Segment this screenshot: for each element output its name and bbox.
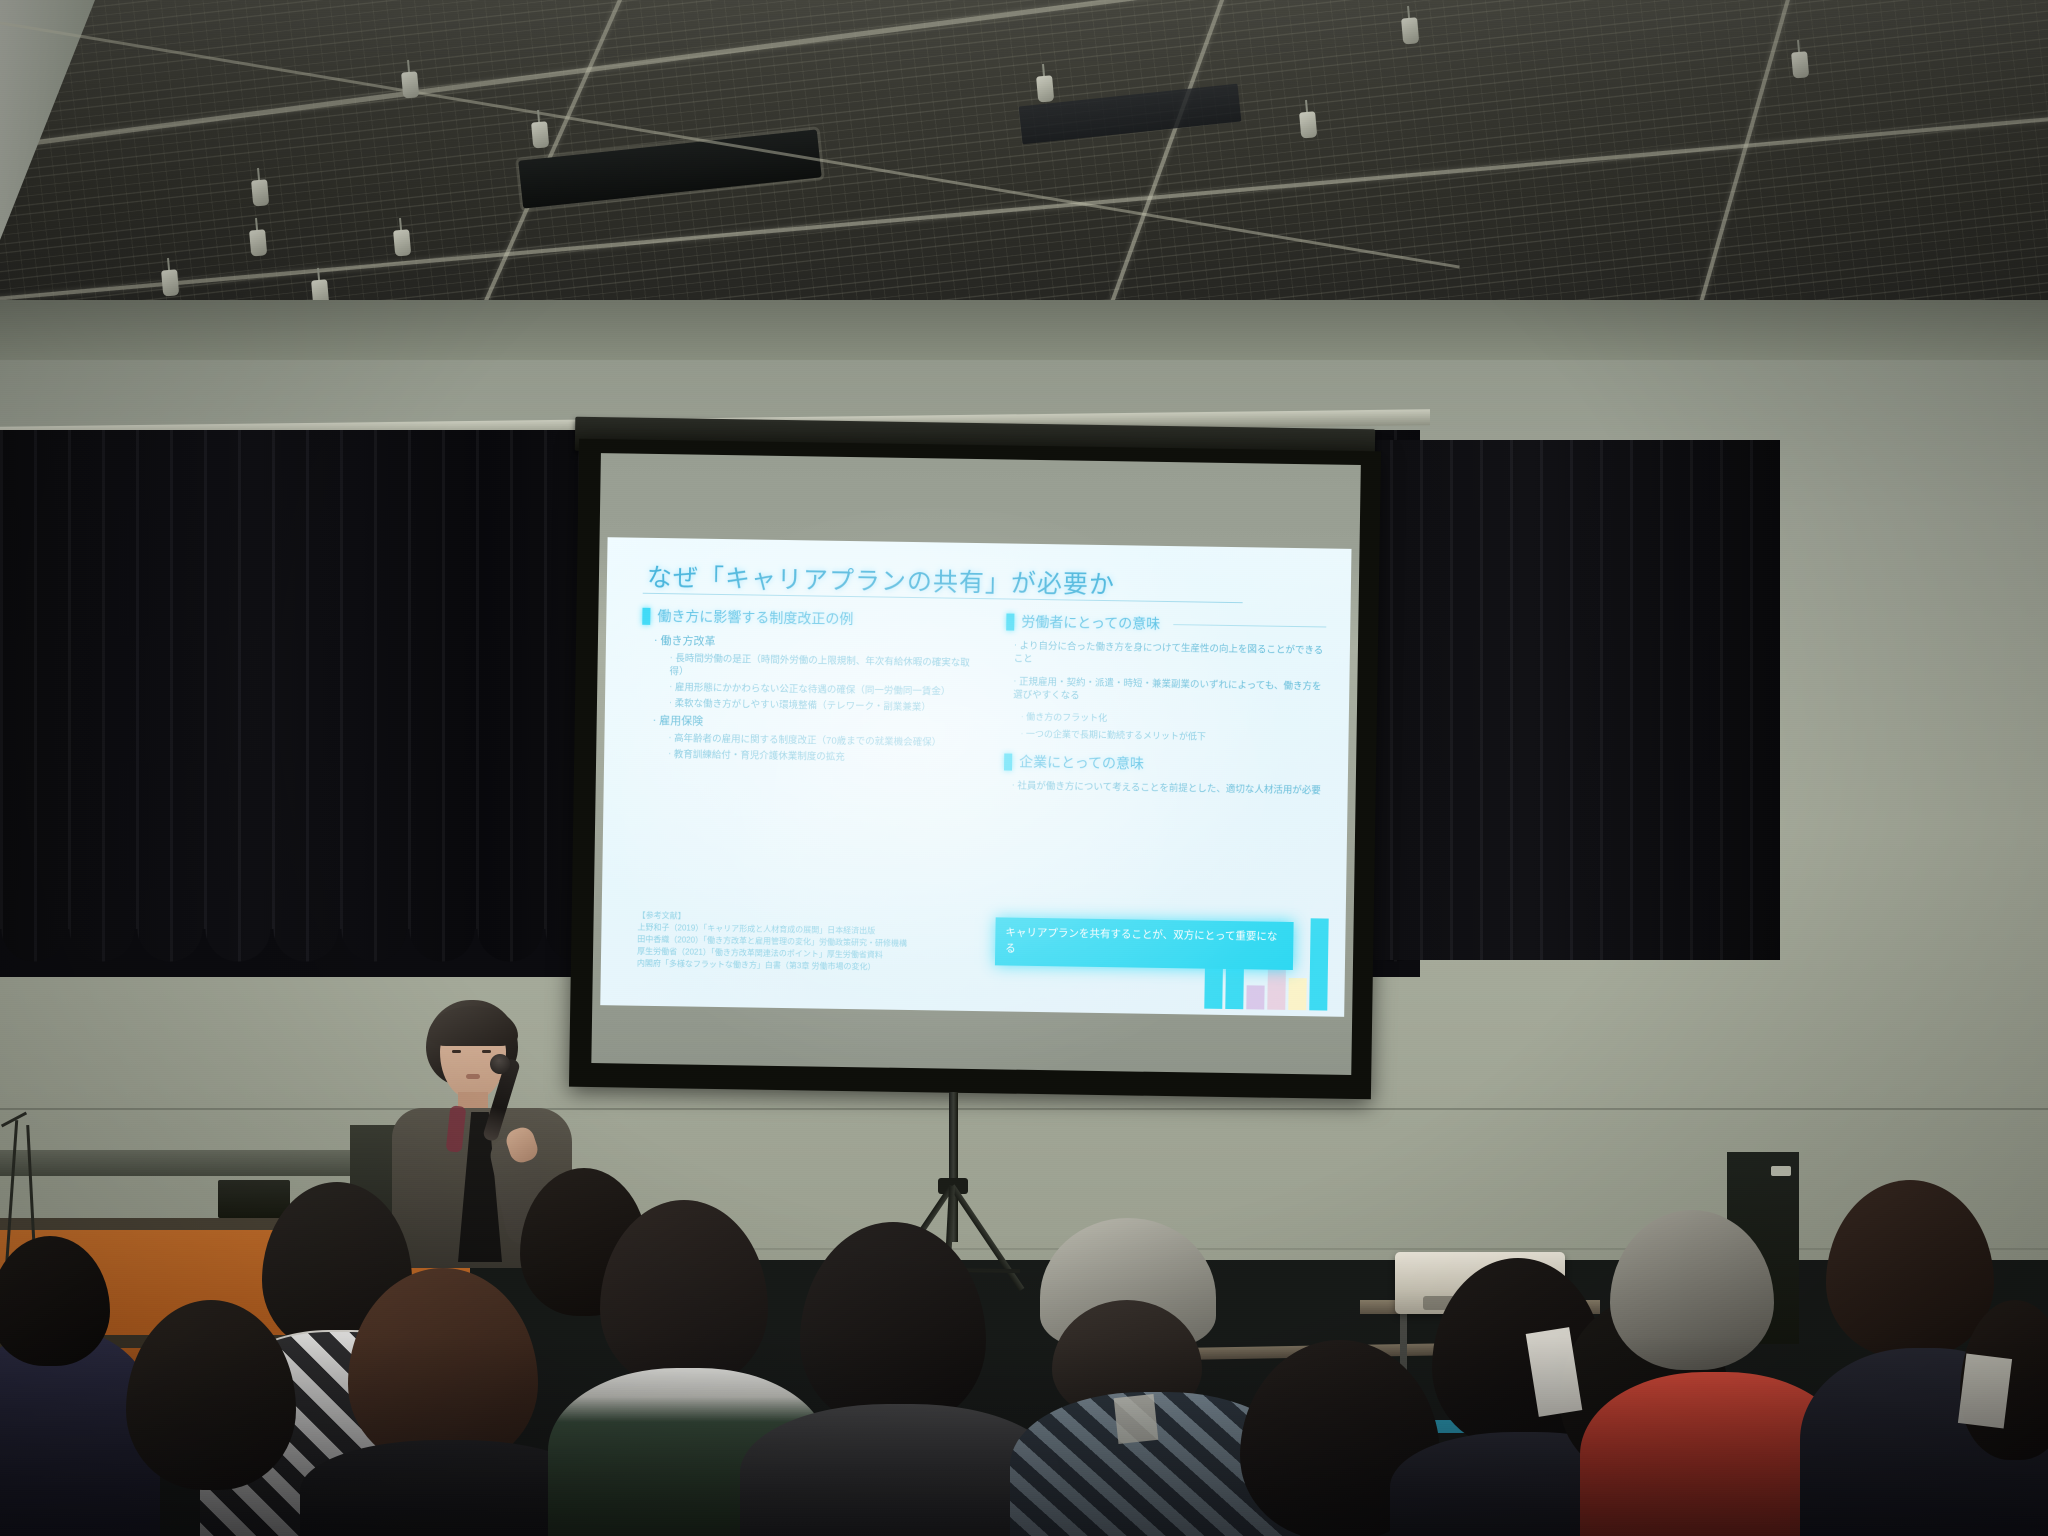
section-marker-icon xyxy=(1004,753,1012,770)
spotlight-icon xyxy=(1790,39,1809,74)
worker-subpoint: 働き方のフラット化 xyxy=(1021,711,1325,728)
spotlight-icon xyxy=(248,217,267,252)
spotlight-icon xyxy=(392,217,411,252)
spotlight-icon xyxy=(1035,63,1054,98)
left-sub-item: 雇用形態にかかわらない公正な待遇の確保（同一労働同一賃金） xyxy=(669,681,971,699)
worker-point: 正規雇用・契約・派遣・時短・兼業副業のいずれによっても、働き方を選びやすくなる xyxy=(1005,675,1325,707)
wall-upper-band xyxy=(0,300,2048,360)
mini-chart-bar xyxy=(1204,968,1223,1009)
podium-equipment xyxy=(218,1180,290,1218)
left-sub-list: 高年齢者の雇用に関する制度改正（70歳までの就業機会確保） 教育訓練給付・育児介… xyxy=(652,732,970,766)
spotlight-icon xyxy=(1298,99,1317,134)
section-heading-left: 働き方に影響する制度改正の例 xyxy=(642,606,972,631)
section-heading-worker-label: 労働者にとっての意味 xyxy=(1021,612,1160,634)
left-sub-item: 教育訓練給付・育児介護休業制度の拡充 xyxy=(668,749,970,767)
screen-surface: なぜ「キャリアプランの共有」が必要か 働き方に影響する制度改正の例 働き方改革 … xyxy=(591,453,1360,1075)
curtain-folds xyxy=(1360,440,1780,960)
projection-screen: なぜ「キャリアプランの共有」が必要か 働き方に影響する制度改正の例 働き方改革 … xyxy=(569,439,1381,1100)
left-sub-item: 柔軟な働き方がしやすい環境整備（テレワーク・副業兼業） xyxy=(669,697,971,715)
left-group-item: 雇用保険 高年齢者の雇用に関する制度改正（70歳までの就業機会確保） 教育訓練給… xyxy=(652,714,971,766)
wall-seam xyxy=(0,1108,2048,1110)
presenter-eye xyxy=(482,1050,491,1053)
slide-right-column: 労働者にとっての意味 より自分に合った働き方を身につけて生産性の向上を図ることが… xyxy=(1003,611,1326,807)
spotlight-icon xyxy=(160,257,179,292)
handout-paper xyxy=(1114,1394,1159,1444)
spotlight-icon xyxy=(310,267,329,302)
mini-chart-bar xyxy=(1288,978,1307,1010)
handout-paper xyxy=(1958,1353,2012,1428)
slide-footnote: 【参考文献】 上野和子（2019）「キャリア形成と人材育成の展開」日本経済出版 … xyxy=(637,910,988,975)
company-point: 社員が働き方について考えることを前提とした、適切な人材活用が必要 xyxy=(1004,780,1324,798)
left-sub-item: 高年齢者の雇用に関する制度改正（70歳までの就業機会確保） xyxy=(668,732,970,750)
worker-point: より自分に合った働き方を身につけて生産性の向上を図ることができること xyxy=(1006,639,1326,671)
slide-callout-box: キャリアプランを共有することが、双方にとって重要になる xyxy=(995,917,1294,969)
section-heading-company-label: 企業にとっての意味 xyxy=(1019,752,1144,774)
projected-slide: なぜ「キャリアプランの共有」が必要か 働き方に影響する制度改正の例 働き方改革 … xyxy=(600,537,1351,1017)
section-marker-icon xyxy=(642,607,650,624)
presenter-eye xyxy=(452,1050,461,1053)
spotlight-icon xyxy=(400,59,419,94)
left-group-label: 働き方改革 xyxy=(654,635,716,648)
section-heading-company: 企業にとっての意味 xyxy=(1004,752,1324,777)
section-heading-worker: 労働者にとっての意味 xyxy=(1006,611,1326,636)
section-heading-left-label: 働き方に影響する制度改正の例 xyxy=(657,606,853,629)
left-group-list: 働き方改革 長時間労働の是正（時間外労働の上限規制、年次有給休暇の確実な取得） … xyxy=(640,634,972,767)
slide-left-column: 働き方に影響する制度改正の例 働き方改革 長時間労働の是正（時間外労働の上限規制… xyxy=(640,606,973,775)
section-rule xyxy=(1173,624,1326,627)
left-sub-list: 長時間労働の是正（時間外労働の上限規制、年次有給休暇の確実な取得） 雇用形態にか… xyxy=(653,652,972,715)
left-group-item: 働き方改革 長時間労働の是正（時間外労働の上限規制、年次有給休暇の確実な取得） … xyxy=(653,634,972,715)
section-marker-icon xyxy=(1006,613,1014,630)
presenter-mouth xyxy=(466,1074,480,1079)
worker-subpoint: 一つの企業で長期に勤続するメリットが低下 xyxy=(1020,727,1324,744)
ceiling xyxy=(0,0,2048,330)
spotlight-icon xyxy=(530,109,549,144)
spotlight-icon xyxy=(1400,5,1419,40)
left-group-label: 雇用保険 xyxy=(653,715,704,728)
spotlight-icon xyxy=(250,167,269,202)
stage-curtain-right xyxy=(1360,440,1780,960)
mini-chart-bar xyxy=(1309,918,1328,1010)
mini-chart-bar xyxy=(1246,985,1264,1009)
lecture-hall-photo: なぜ「キャリアプランの共有」が必要か 働き方に影響する制度改正の例 働き方改革 … xyxy=(0,0,2048,1536)
left-sub-item: 長時間労働の是正（時間外労働の上限規制、年次有給休暇の確実な取得） xyxy=(669,652,971,683)
